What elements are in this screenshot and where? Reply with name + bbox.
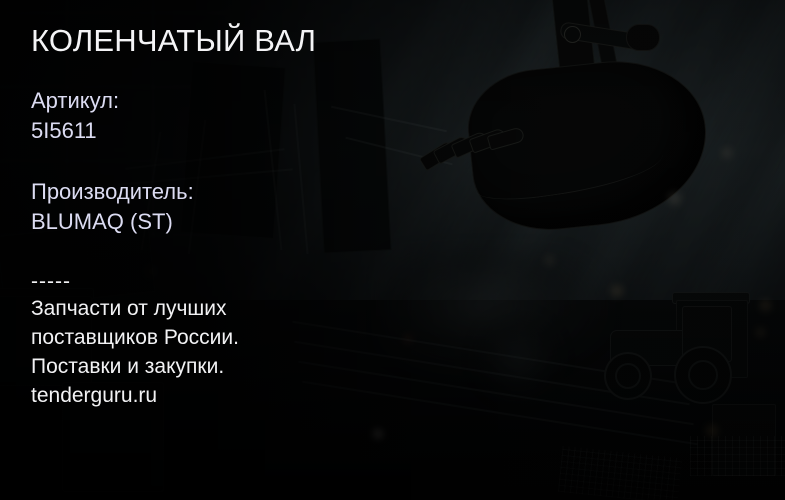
article-label: Артикул: bbox=[31, 86, 119, 116]
promo-block: ----- Запчасти от лучших поставщиков Рос… bbox=[31, 270, 239, 410]
product-banner: КОЛЕНЧАТЫЙ ВАЛ Артикул: 5I5611 Производи… bbox=[0, 0, 785, 500]
article-value: 5I5611 bbox=[31, 116, 119, 146]
manufacturer-value: BLUMAQ (ST) bbox=[31, 207, 194, 237]
promo-line-2: поставщиков России. bbox=[31, 323, 239, 352]
promo-site-url[interactable]: tenderguru.ru bbox=[31, 381, 239, 410]
banner-content: КОЛЕНЧАТЫЙ ВАЛ Артикул: 5I5611 Производи… bbox=[0, 0, 785, 500]
product-title: КОЛЕНЧАТЫЙ ВАЛ bbox=[31, 22, 316, 60]
manufacturer-block: Производитель: BLUMAQ (ST) bbox=[31, 177, 194, 237]
promo-separator: ----- bbox=[31, 270, 239, 294]
promo-line-1: Запчасти от лучших bbox=[31, 294, 239, 323]
article-block: Артикул: 5I5611 bbox=[31, 86, 119, 146]
promo-line-3: Поставки и закупки. bbox=[31, 352, 239, 381]
manufacturer-label: Производитель: bbox=[31, 177, 194, 207]
